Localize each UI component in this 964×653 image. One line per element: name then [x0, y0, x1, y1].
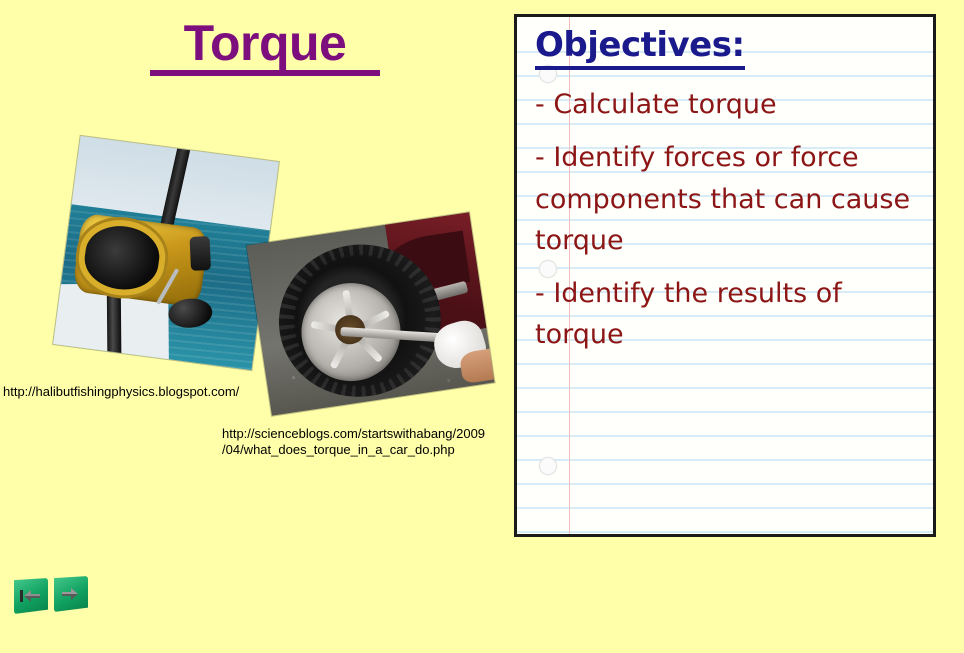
arrow-left-icon [20, 589, 42, 603]
previous-slide-button[interactable] [14, 578, 48, 614]
reel-drag-lever [190, 236, 211, 270]
objectives-heading: Objectives: [535, 25, 745, 70]
page-title: Torque [150, 18, 380, 76]
objectives-panel: Objectives: - Calculate torque - Identif… [514, 14, 936, 537]
hole-punch-icon [539, 457, 557, 475]
objective-item: - Identify forces or force components th… [535, 137, 919, 261]
fishing-photo-caption: http://halibutfishingphysics.blogspot.co… [3, 384, 239, 400]
slide-canvas: Torque http://halibutfishi [0, 0, 964, 653]
car-tire-photo[interactable] [247, 212, 495, 415]
tire-photo-caption: http://scienceblogs.com/startswithabang/… [222, 426, 485, 459]
rim-spoke [342, 290, 355, 332]
objective-item: - Calculate torque [535, 84, 919, 125]
next-slide-button[interactable] [54, 576, 88, 612]
page-title-text: Torque [184, 15, 347, 71]
objectives-content: Objectives: - Calculate torque - Identif… [535, 25, 919, 368]
arrow-right-icon [60, 587, 82, 601]
fishing-reel-photo[interactable] [53, 136, 279, 370]
objective-item: - Identify the results of torque [535, 273, 919, 356]
